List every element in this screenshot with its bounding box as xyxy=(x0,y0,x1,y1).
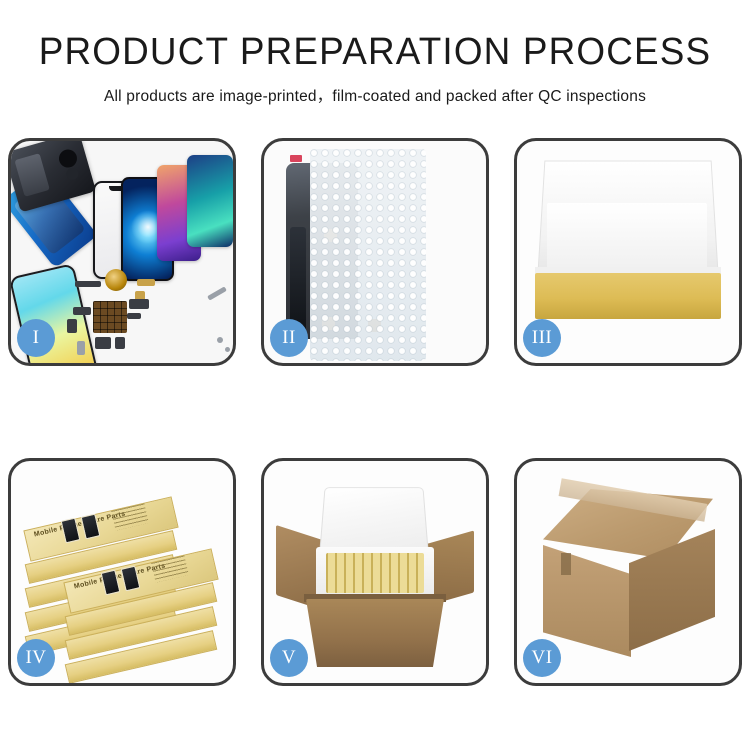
bubble-wrap-bag-icon xyxy=(310,149,426,361)
process-step-panel-6[interactable]: VI xyxy=(514,458,742,686)
screw-part xyxy=(217,337,223,343)
process-steps-grid: I II III xyxy=(8,138,742,686)
battery-connector-part xyxy=(77,341,85,355)
process-step-panel-1[interactable]: I xyxy=(8,138,236,366)
process-step-panel-5[interactable]: V xyxy=(261,458,489,686)
carton-front-face-icon xyxy=(543,545,631,657)
ribbon-part xyxy=(127,313,141,319)
foam-lid-icon xyxy=(319,487,429,554)
gold-flex-part xyxy=(137,279,155,286)
carton-seam-icon xyxy=(561,553,571,575)
step-badge-4: IV xyxy=(17,639,55,677)
page-header: PRODUCT PREPARATION PROCESS All products… xyxy=(0,0,750,106)
step-badge-6: VI xyxy=(523,639,561,677)
screw-part xyxy=(225,347,230,352)
carton-body-icon xyxy=(306,599,444,667)
page-title: PRODUCT PREPARATION PROCESS xyxy=(11,33,739,71)
yellow-boxes-inside-icon xyxy=(326,553,424,593)
speaker-part xyxy=(95,337,111,349)
teal-gradient-phone-icon xyxy=(187,155,233,247)
yellow-box-base-icon xyxy=(535,273,721,319)
wrapped-flex-cable-icon xyxy=(290,227,306,331)
step-badge-1: I xyxy=(17,319,55,357)
vibrator-part xyxy=(115,337,125,349)
small-module-part xyxy=(67,319,77,333)
step-badge-5: V xyxy=(270,639,308,677)
tweezers-part xyxy=(207,286,227,300)
flex-cable-part xyxy=(73,307,91,315)
connector-strip-part xyxy=(75,281,101,287)
camera-module-part xyxy=(129,299,149,309)
red-qc-label-icon xyxy=(290,155,302,162)
chip-array-icon xyxy=(93,301,127,333)
copper-coil-icon xyxy=(105,269,127,291)
foam-sheet-icon xyxy=(547,203,707,275)
step-badge-2: II xyxy=(270,319,308,357)
page-subtitle: All products are image-printed，film-coat… xyxy=(0,84,750,106)
process-step-panel-2[interactable]: II xyxy=(261,138,489,366)
step-badge-3: III xyxy=(523,319,561,357)
process-step-panel-4[interactable]: Mobile Phone Spare Parts Mobile Phone Sp… xyxy=(8,458,236,686)
phone-back-housing-icon xyxy=(11,141,96,213)
process-step-panel-3[interactable]: III xyxy=(514,138,742,366)
product-preparation-page: PRODUCT PREPARATION PROCESS All products… xyxy=(0,0,750,750)
